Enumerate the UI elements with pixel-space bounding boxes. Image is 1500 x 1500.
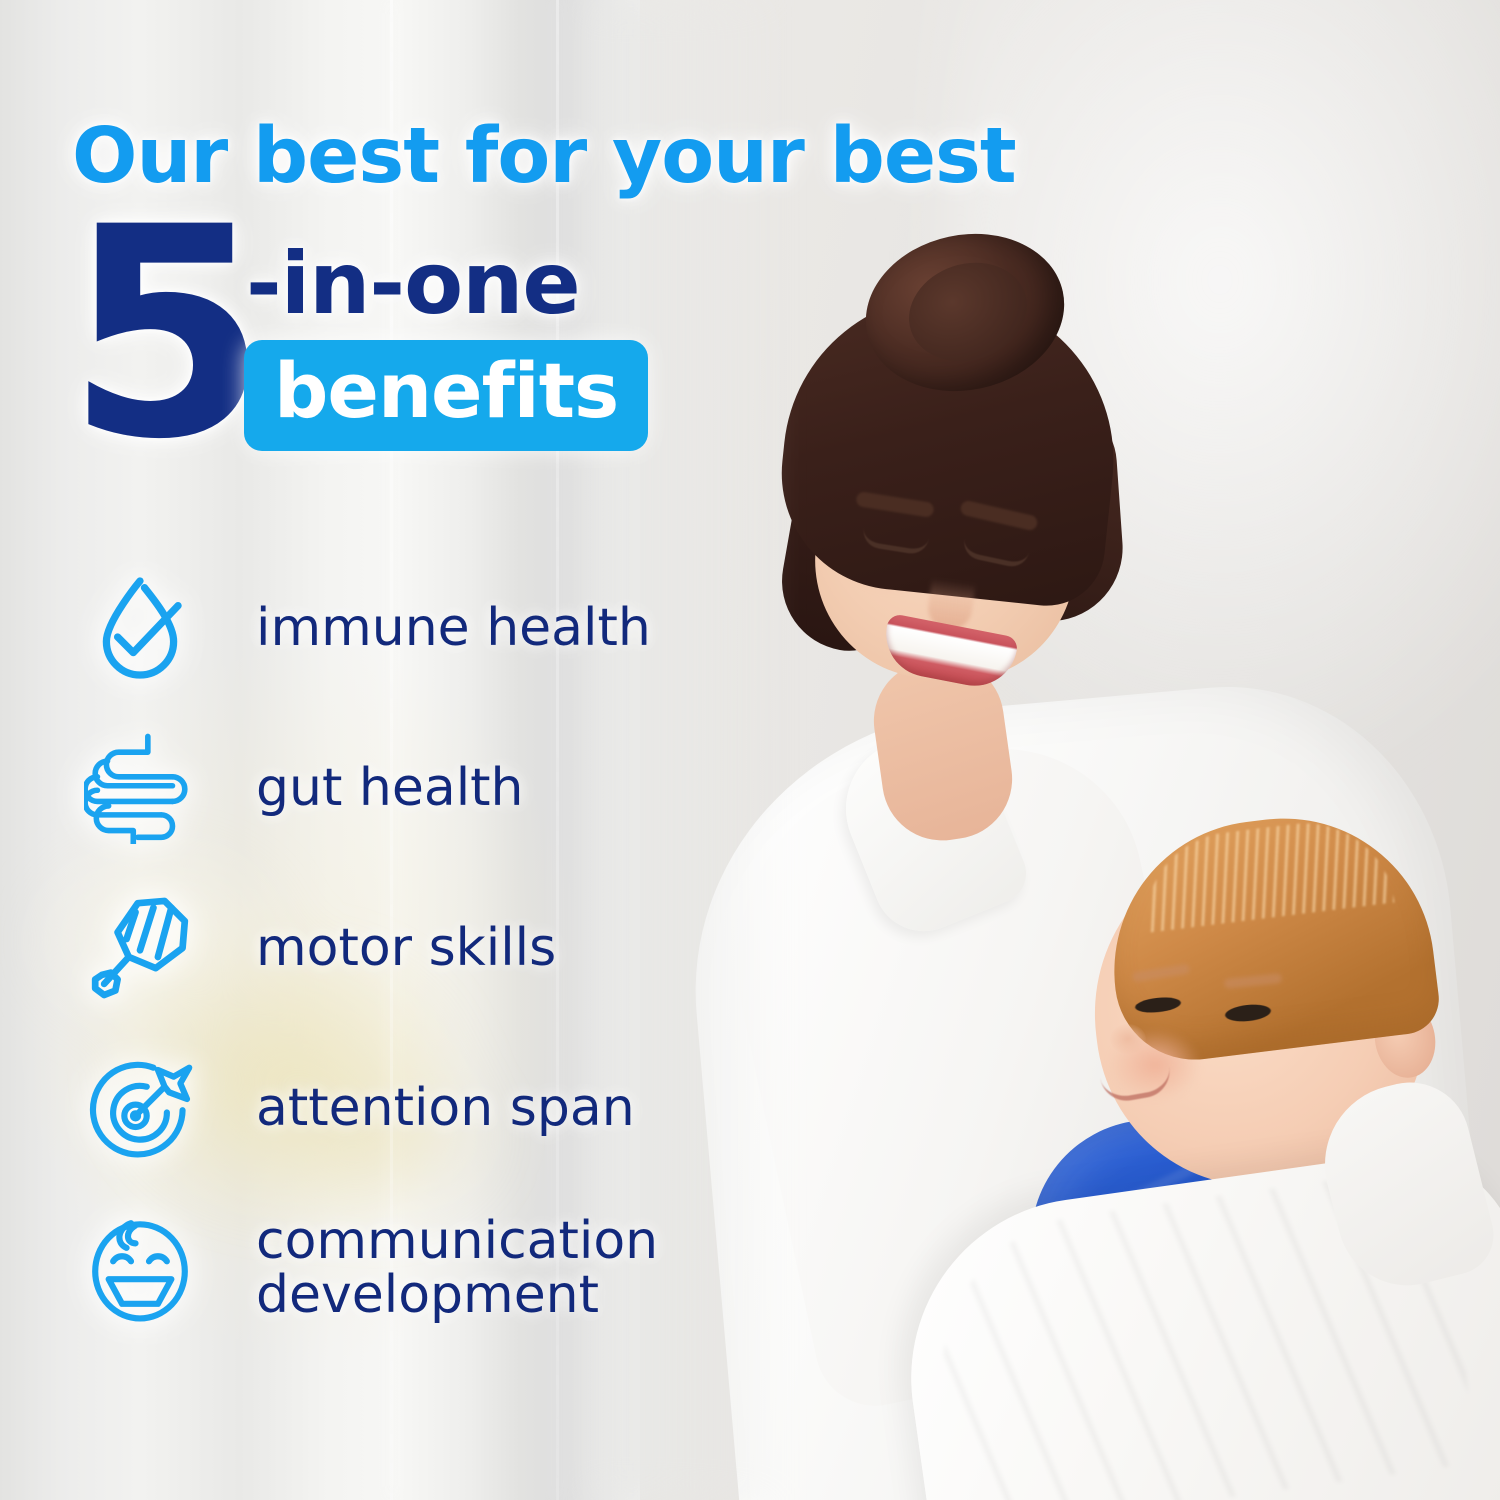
- list-item: gut health: [78, 708, 718, 868]
- list-item: motor skills: [78, 868, 718, 1028]
- baby-nose: [1110, 1024, 1146, 1054]
- intestine-icon: [78, 726, 202, 850]
- list-item-label: gut health: [256, 761, 524, 815]
- list-item-label: attention span: [256, 1081, 635, 1135]
- list-item-label: communication development: [256, 1214, 658, 1322]
- list-item: immune health: [78, 548, 718, 708]
- list-item-label: motor skills: [256, 921, 556, 975]
- benefits-badge: benefits: [244, 340, 648, 451]
- rattle-icon: [78, 886, 202, 1010]
- list-item: attention span: [78, 1028, 718, 1188]
- droplet-check-icon: [78, 566, 202, 690]
- claim-number: 5: [66, 222, 262, 448]
- target-arrow-icon: [78, 1046, 202, 1170]
- list-item-label: immune health: [256, 601, 651, 655]
- list-item: communication development: [78, 1188, 718, 1348]
- benefits-list: immune health gut health: [78, 548, 718, 1348]
- claim-suffix: -in-one: [246, 234, 580, 334]
- product-benefits-poster: Our best for your best 5 -in-one benefit…: [0, 0, 1500, 1500]
- baby-face-icon: [78, 1206, 202, 1330]
